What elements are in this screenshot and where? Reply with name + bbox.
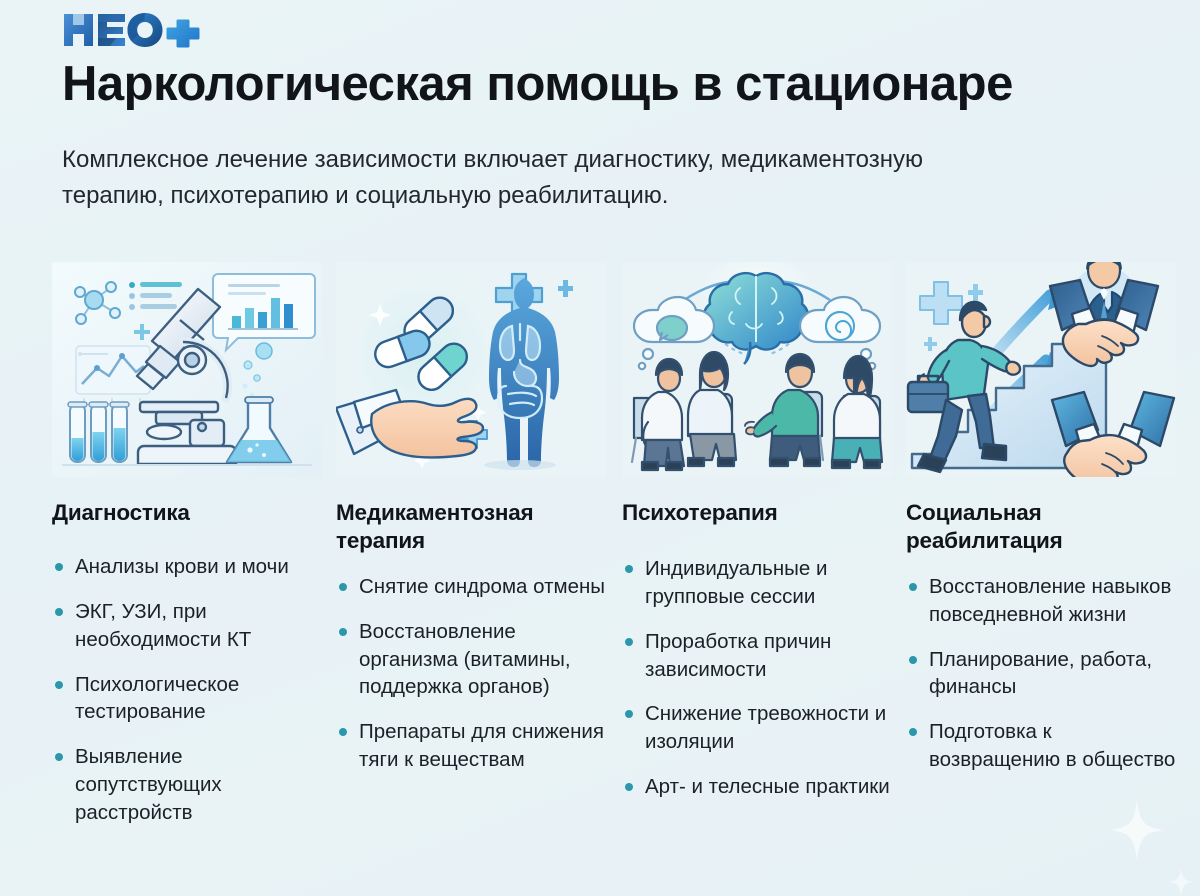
list-item: Восстановление организма (витамины, подд… bbox=[336, 618, 616, 702]
list-item: Подготовка к возвращению в общество bbox=[906, 718, 1188, 774]
list-item: Планирование, работа, финансы bbox=[906, 646, 1188, 702]
bullet-list-medication: Снятие синдрома отмены Восстановление ор… bbox=[336, 573, 616, 774]
list-item: Анализы крови и мочи bbox=[52, 553, 332, 581]
bullet-list-diagnostics: Анализы крови и мочи ЭКГ, УЗИ, при необх… bbox=[52, 553, 332, 827]
column-medication: Медикаментозная терапия Снятие синдрома … bbox=[336, 262, 616, 791]
list-item: ЭКГ, УЗИ, при необходимости КТ bbox=[52, 598, 332, 654]
list-item: Препараты для снижения тяги к веществам bbox=[336, 718, 616, 774]
column-heading-diagnostics: Диагностика bbox=[52, 499, 332, 527]
page-subtitle: Комплексное лечение зависимости включает… bbox=[62, 142, 962, 215]
page-title: Наркологическая помощь в стационаре bbox=[62, 58, 1162, 111]
column-psychotherapy: Психотерапия Индивидуальные и групповые … bbox=[622, 262, 900, 818]
list-item: Индивидуальные и групповые сессии bbox=[622, 555, 900, 611]
bullet-list-psychotherapy: Индивидуальные и групповые сессии Прораб… bbox=[622, 555, 900, 801]
group-therapy-brain-icon bbox=[622, 262, 892, 477]
list-item: Проработка причин зависимости bbox=[622, 628, 900, 684]
column-heading-psychotherapy: Психотерапия bbox=[622, 499, 900, 527]
column-social-rehab: Социальная реабилитация Восстановление н… bbox=[906, 262, 1188, 791]
list-item: Снижение тревожности и изоляции bbox=[622, 700, 900, 756]
microscope-lab-icon bbox=[52, 262, 322, 477]
list-item: Восстановление навыков повседневной жизн… bbox=[906, 573, 1188, 629]
list-item: Психологическое тестирование bbox=[52, 671, 332, 727]
bullet-list-social-rehab: Восстановление навыков повседневной жизн… bbox=[906, 573, 1188, 774]
column-heading-medication: Медикаментозная терапия bbox=[336, 499, 616, 555]
list-item: Снятие синдрома отмены bbox=[336, 573, 616, 601]
stairs-handshake-icon bbox=[906, 262, 1176, 477]
neo-plus-logo bbox=[62, 10, 202, 50]
list-item: Выявление сопутствующих расстройств bbox=[52, 743, 332, 827]
hand-pills-body-icon bbox=[336, 262, 606, 477]
list-item: Арт- и телесные практики bbox=[622, 773, 900, 801]
column-diagnostics: Диагностика Анализы крови и мочи ЭКГ, УЗ… bbox=[52, 262, 332, 844]
content-columns: Диагностика Анализы крови и мочи ЭКГ, УЗ… bbox=[0, 262, 1200, 882]
column-heading-social-rehab: Социальная реабилитация bbox=[906, 499, 1188, 555]
